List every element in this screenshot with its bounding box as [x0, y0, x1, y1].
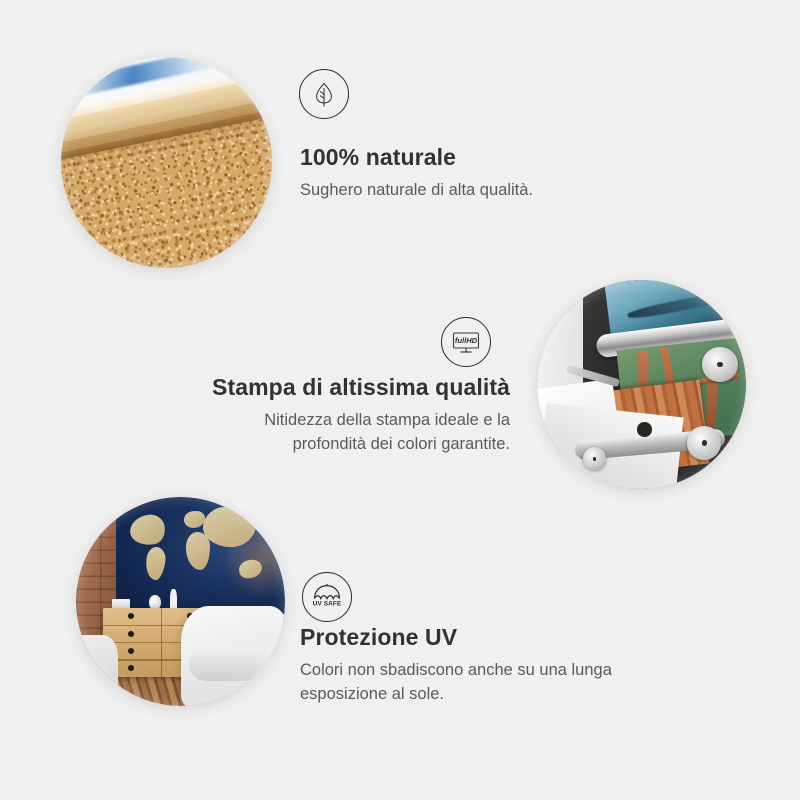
world-map-wall-art: [116, 497, 285, 622]
dresser-knob: [128, 648, 134, 654]
feature-description-natural: Sughero naturale di alta qualità.: [300, 179, 720, 202]
photo-living-room-world-map: [76, 497, 285, 706]
feature-title-uv-protection: Protezione UV: [300, 625, 730, 650]
printer-end-cap: [702, 347, 738, 383]
feature-title-print-quality: Stampa di altissima qualità: [90, 375, 510, 400]
feature-text-print-quality: Stampa di altissima qualità Nitidezza de…: [90, 375, 510, 456]
leaf-icon: [299, 69, 349, 119]
dresser-knob: [128, 613, 134, 619]
continent-north-america: [128, 512, 167, 547]
printer-end-cap: [687, 426, 720, 459]
feature-text-uv-protection: Protezione UV Colori non sbadiscono anch…: [300, 625, 730, 706]
feature-showcase: 100% naturale Sughero naturale di alta q…: [0, 0, 800, 800]
dresser-knob: [128, 665, 134, 671]
continent-south-america: [143, 546, 167, 581]
feature-description-print-quality-line1: Nitidezza della stampa ideale e la: [90, 409, 510, 432]
feature-description-uv-line2: esposizione al sole.: [300, 683, 730, 706]
dresser-knob: [128, 631, 134, 637]
feature-text-natural: 100% naturale Sughero naturale di alta q…: [300, 145, 720, 203]
feature-title-natural: 100% naturale: [300, 145, 720, 170]
fullhd-icon-label: fullHD: [455, 336, 478, 345]
printer-knob: [637, 422, 652, 437]
printer-end-cap: [583, 447, 606, 470]
feature-description-print-quality-line2: profondità dei colori garantite.: [90, 433, 510, 456]
armchair-secondary: [76, 635, 118, 706]
armchair-armrest: [189, 647, 281, 680]
fullhd-monitor-icon: fullHD: [441, 317, 491, 367]
uv-umbrella-icon: UV SAFE: [302, 572, 352, 622]
photo-cork-texture: [61, 57, 272, 268]
photo-large-format-printer: [537, 280, 746, 489]
uv-safe-icon-label: UV SAFE: [313, 601, 342, 608]
feature-description-uv-line1: Colori non sbadiscono anche su una lunga: [300, 659, 730, 682]
